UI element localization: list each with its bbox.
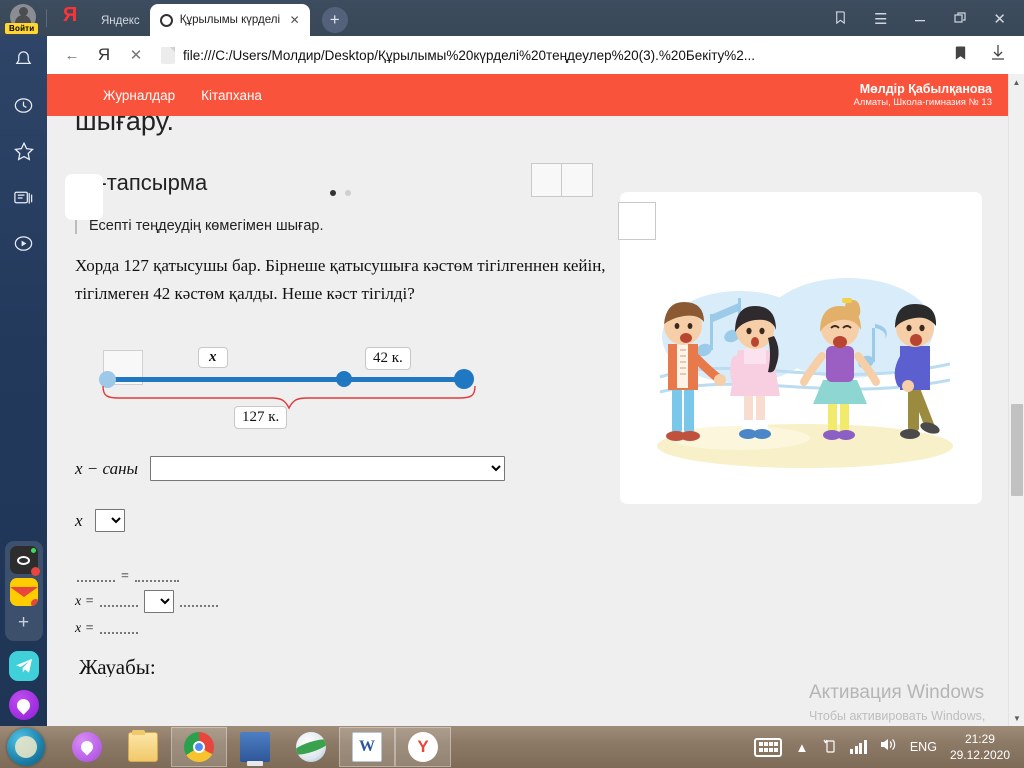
notifications-icon[interactable] <box>0 36 47 82</box>
tab-favicon-icon <box>160 14 173 27</box>
envelope-glyph <box>10 587 38 597</box>
profile-avatar[interactable]: Войти <box>0 0 46 36</box>
answer-label: Жауабы: <box>75 655 1024 677</box>
divider <box>46 9 47 27</box>
taskbar-app-monitor[interactable] <box>227 727 283 767</box>
watermark-line-1: Чтобы активировать Windows, <box>809 707 985 725</box>
file-icon <box>161 47 175 64</box>
download-icon[interactable] <box>990 44 1006 66</box>
clock-time: 21:29 <box>950 731 1010 747</box>
tab-lesson[interactable]: Құрылымы күрделі тең ✕ <box>150 4 310 36</box>
badge-dot <box>31 567 40 576</box>
drop-glyph <box>14 696 32 714</box>
wifi-signal-icon[interactable] <box>850 740 867 754</box>
broken-image-placeholder <box>562 163 593 197</box>
telegram-app-icon[interactable] <box>9 651 39 681</box>
label-x: x <box>75 511 83 531</box>
tab-strip: Войти Я Яндекс Құрылымы күрделі тең ✕ + … <box>0 0 1024 36</box>
taskbar-app-word[interactable]: W <box>339 727 395 767</box>
browser-sidebar: + <box>0 36 47 726</box>
white-placeholder-chip <box>65 174 103 220</box>
diagram-label-x: x <box>198 347 228 368</box>
video-play-icon[interactable] <box>0 220 47 266</box>
user-name: Мөлдір Қабылқанова <box>853 82 992 96</box>
label-x-count: x − саны <box>75 459 138 479</box>
language-indicator[interactable]: ENG <box>910 740 937 754</box>
problem-text: Хорда 127 қатысушы бар. Бірнеше қатысушы… <box>71 252 611 308</box>
equals-sign: = <box>121 569 129 585</box>
taskbar-app-chrome[interactable] <box>171 727 227 767</box>
broken-image-placeholder-pair <box>531 163 593 197</box>
keyboard-icon[interactable] <box>754 738 782 757</box>
label-x-equals: x = <box>75 594 94 610</box>
pagination-dot-active[interactable] <box>330 190 336 196</box>
bookmarks-star-icon[interactable] <box>0 128 47 174</box>
internet-icon <box>296 732 326 762</box>
address-toolbar: ← Я ✕ file:///C:/Users/Молдир/Desktop/Құ… <box>47 36 1024 74</box>
maximize-icon[interactable] <box>953 11 967 28</box>
windows-activation-watermark: Активация Windows Чтобы активировать Win… <box>809 682 985 726</box>
pagination-dot[interactable] <box>345 190 351 196</box>
clock-date: 29.12.2020 <box>950 747 1010 763</box>
scrollbar-thumb[interactable] <box>1011 404 1023 496</box>
bookmark-star-icon[interactable] <box>953 45 968 66</box>
equation-operator-select[interactable] <box>144 590 174 613</box>
diagram-line <box>106 377 464 382</box>
sidebar-app-group: + <box>5 541 43 641</box>
user-info[interactable]: Мөлдір Қабылқанова Алматы, Школа-гимнази… <box>853 82 1006 108</box>
back-button[interactable]: ← <box>57 41 87 69</box>
start-glyph <box>15 736 37 758</box>
browser-window: Войти Я Яндекс Құрылымы күрделі тең ✕ + … <box>0 0 1024 726</box>
site-nav: Журналдар Кітапхана <box>103 88 262 103</box>
close-icon[interactable]: ✕ <box>993 12 1006 27</box>
monitor-icon <box>240 732 270 762</box>
blank-field[interactable] <box>77 571 115 582</box>
equation-line-1: x = <box>75 591 1024 612</box>
cards-icon[interactable] <box>0 174 47 220</box>
system-tray: ▲ ENG 21:29 29.12.2020 <box>754 731 1024 763</box>
equation-line-fraction: = <box>75 566 1024 587</box>
history-icon[interactable] <box>0 82 47 128</box>
add-app-button[interactable]: + <box>18 610 29 636</box>
yandex-home-icon[interactable]: Я <box>89 41 119 69</box>
diagram-label-127: 127 к. <box>234 406 287 429</box>
mail-app-icon[interactable] <box>10 578 38 606</box>
diagram-brace <box>99 384 479 410</box>
chrome-icon <box>184 732 214 762</box>
scroll-up-arrow-icon[interactable]: ▲ <box>1009 74 1024 90</box>
taskbar-app-internet[interactable] <box>283 727 339 767</box>
status-dot <box>31 548 36 553</box>
page-scrollbar[interactable]: ▲ ▼ <box>1008 74 1024 726</box>
x-count-select[interactable] <box>150 456 505 481</box>
label-x-equals: x = <box>75 621 94 637</box>
show-hidden-icons-icon[interactable]: ▲ <box>795 740 808 755</box>
pagination-dots[interactable] <box>330 190 351 196</box>
new-tab-button[interactable]: + <box>322 7 348 33</box>
folder-icon <box>128 732 158 762</box>
yandex-browser-icon: Y <box>408 732 438 762</box>
form-row-x: x <box>75 509 1024 532</box>
alice-icon <box>72 732 102 762</box>
scroll-down-arrow-icon[interactable]: ▼ <box>1009 710 1024 726</box>
yandex-logo-icon: Я <box>49 0 91 36</box>
badge-dot <box>31 599 38 606</box>
page-title: шығару. <box>71 106 1024 146</box>
login-badge[interactable]: Войти <box>5 23 38 34</box>
taskbar-app-explorer[interactable] <box>115 727 171 767</box>
address-bar[interactable]: file:///C:/Users/Молдир/Desktop/Құрылымы… <box>153 41 951 69</box>
zen-app-icon[interactable] <box>10 546 38 574</box>
blank-field[interactable] <box>100 596 138 607</box>
sidebar-apps: + <box>5 541 43 726</box>
diagram-label-42: 42 к. <box>365 347 411 370</box>
blank-field[interactable] <box>180 596 218 607</box>
tab-label: Құрылымы күрделі тең <box>180 14 283 26</box>
clock[interactable]: 21:29 29.12.2020 <box>950 731 1014 763</box>
start-button[interactable] <box>7 728 45 766</box>
minimize-icon[interactable] <box>913 11 927 28</box>
blank-field[interactable] <box>100 623 138 634</box>
window-controls: ☰ ✕ <box>833 10 1024 36</box>
watermark-title: Активация Windows <box>809 682 985 704</box>
menu-icon[interactable]: ☰ <box>874 12 887 27</box>
address-actions <box>953 44 1014 66</box>
eye-glyph <box>17 556 30 565</box>
alice-app-icon[interactable] <box>9 690 39 720</box>
battery-icon[interactable] <box>821 737 837 758</box>
url-text: file:///C:/Users/Молдир/Desktop/Құрылымы… <box>183 48 755 63</box>
close-icon[interactable]: ✕ <box>290 13 300 27</box>
tab-label: Яндекс <box>101 15 140 27</box>
bookmark-icon[interactable] <box>833 10 848 28</box>
stop-button[interactable]: ✕ <box>121 41 151 69</box>
illustration-card <box>620 192 982 504</box>
volume-icon[interactable] <box>880 737 897 757</box>
x-operator-select[interactable] <box>95 509 125 532</box>
taskbar-app-yandex[interactable]: Y <box>395 727 451 767</box>
word-icon: W <box>352 732 382 762</box>
tab-yandex[interactable]: Яндекс <box>91 6 150 36</box>
taskbar-apps: W Y <box>59 727 451 767</box>
nav-item-journals[interactable]: Журналдар <box>103 88 175 103</box>
blank-field[interactable] <box>135 571 179 582</box>
children-singing-illustration <box>620 232 982 482</box>
equation-line-2: x = <box>75 618 1024 639</box>
nav-item-library[interactable]: Кітапхана <box>201 88 262 103</box>
broken-image-placeholder <box>531 163 562 197</box>
page-content: Журналдар Кітапхана Мөлдір Қабылқанова А… <box>47 74 1024 726</box>
windows-taskbar: W Y ▲ ENG 21:29 29.12.2020 <box>0 726 1024 768</box>
equation-block: = x = x = <box>75 566 1024 639</box>
taskbar-app-alice[interactable] <box>59 727 115 767</box>
